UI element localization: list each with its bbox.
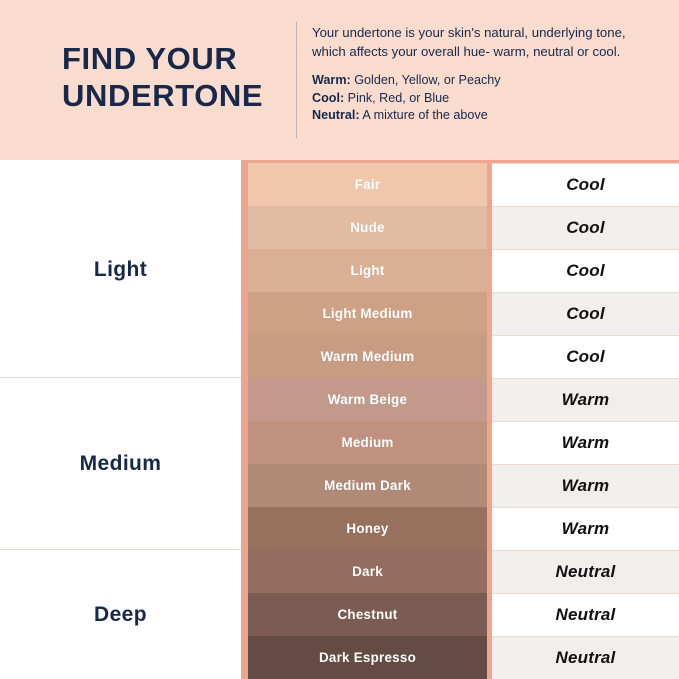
shade-name-label: Medium Dark — [324, 478, 411, 493]
depth-group-medium: Medium — [0, 378, 241, 550]
depth-label: Medium — [80, 452, 162, 476]
undertone-label: Neutral — [556, 648, 616, 668]
shade-swatch-row[interactable]: Nude — [248, 206, 487, 249]
undertone-row[interactable]: Cool — [492, 249, 679, 292]
undertone-label: Cool — [566, 347, 605, 367]
depth-group-deep: Deep — [0, 550, 241, 679]
depth-label: Deep — [94, 603, 147, 627]
header-banner: FIND YOUR UNDERTONE Your undertone is yo… — [0, 0, 679, 160]
shade-name-label: Honey — [346, 521, 388, 536]
page-title: FIND YOUR UNDERTONE — [62, 40, 287, 114]
shade-name-label: Dark Espresso — [319, 650, 416, 665]
undertone-label: Cool — [566, 175, 605, 195]
shade-swatch-row[interactable]: Honey — [248, 507, 487, 550]
shade-name-label: Nude — [350, 220, 384, 235]
undertone-row[interactable]: Warm — [492, 464, 679, 507]
shade-name-label: Light — [351, 263, 385, 278]
shade-name-label: Chestnut — [337, 607, 397, 622]
undertone-label: Warm — [562, 433, 610, 453]
undertone-label: Warm — [562, 519, 610, 539]
header-vertical-divider — [296, 22, 297, 138]
shade-swatch-row[interactable]: Medium — [248, 421, 487, 464]
shade-name-label: Light Medium — [322, 306, 412, 321]
undertone-row[interactable]: Neutral — [492, 636, 679, 679]
shade-name-label: Fair — [355, 177, 381, 192]
undertone-row[interactable]: Cool — [492, 292, 679, 335]
undertone-label: Warm — [562, 476, 610, 496]
undertone-label: Neutral — [556, 605, 616, 625]
undertone-label: Cool — [566, 261, 605, 281]
shade-name-label: Dark — [352, 564, 383, 579]
shade-name-label: Warm Medium — [321, 349, 415, 364]
shade-swatch-row[interactable]: Chestnut — [248, 593, 487, 636]
undertone-row[interactable]: Warm — [492, 421, 679, 464]
undertone-row[interactable]: Warm — [492, 378, 679, 421]
definition-neutral-term: Neutral: — [312, 108, 360, 122]
definition-warm-term: Warm: — [312, 73, 351, 87]
definition-cool: Cool: Pink, Red, or Blue — [312, 90, 658, 108]
undertone-row[interactable]: Warm — [492, 507, 679, 550]
shade-swatch-row[interactable]: Warm Medium — [248, 335, 487, 378]
shade-swatch-row[interactable]: Light — [248, 249, 487, 292]
shade-name-label: Medium — [341, 435, 393, 450]
shade-swatch-row[interactable]: Dark Espresso — [248, 636, 487, 679]
undertone-row[interactable]: Cool — [492, 163, 679, 206]
definition-warm-desc: Golden, Yellow, or Peachy — [351, 73, 501, 87]
shade-swatch-column: FairNudeLightLight MediumWarm MediumWarm… — [241, 160, 487, 679]
undertone-label: Warm — [562, 390, 610, 410]
undertone-row[interactable]: Cool — [492, 206, 679, 249]
undertone-infographic: FIND YOUR UNDERTONE Your undertone is yo… — [0, 0, 679, 679]
undertone-row[interactable]: Cool — [492, 335, 679, 378]
shade-swatch-row[interactable]: Fair — [248, 163, 487, 206]
undertone-row[interactable]: Neutral — [492, 593, 679, 636]
shade-table: LightMediumDeep FairNudeLightLight Mediu… — [0, 160, 679, 679]
header-description-block: Your undertone is your skin's natural, u… — [312, 24, 658, 125]
definition-cool-desc: Pink, Red, or Blue — [344, 91, 449, 105]
definition-neutral: Neutral: A mixture of the above — [312, 107, 658, 125]
shade-swatch-row[interactable]: Medium Dark — [248, 464, 487, 507]
undertone-label: Cool — [566, 218, 605, 238]
undertone-column: CoolCoolCoolCoolCoolWarmWarmWarmWarmNeut… — [487, 160, 679, 679]
depth-column: LightMediumDeep — [0, 160, 241, 679]
definition-warm: Warm: Golden, Yellow, or Peachy — [312, 72, 658, 90]
shade-swatch-row[interactable]: Warm Beige — [248, 378, 487, 421]
shade-swatch-row[interactable]: Light Medium — [248, 292, 487, 335]
undertone-row[interactable]: Neutral — [492, 550, 679, 593]
undertone-label: Cool — [566, 304, 605, 324]
shade-swatch-row[interactable]: Dark — [248, 550, 487, 593]
undertone-intro-text: Your undertone is your skin's natural, u… — [312, 24, 658, 61]
depth-label: Light — [94, 258, 147, 282]
shade-name-label: Warm Beige — [328, 392, 407, 407]
depth-group-light: Light — [0, 163, 241, 378]
definition-neutral-desc: A mixture of the above — [360, 108, 488, 122]
definition-cool-term: Cool: — [312, 91, 344, 105]
undertone-label: Neutral — [556, 562, 616, 582]
